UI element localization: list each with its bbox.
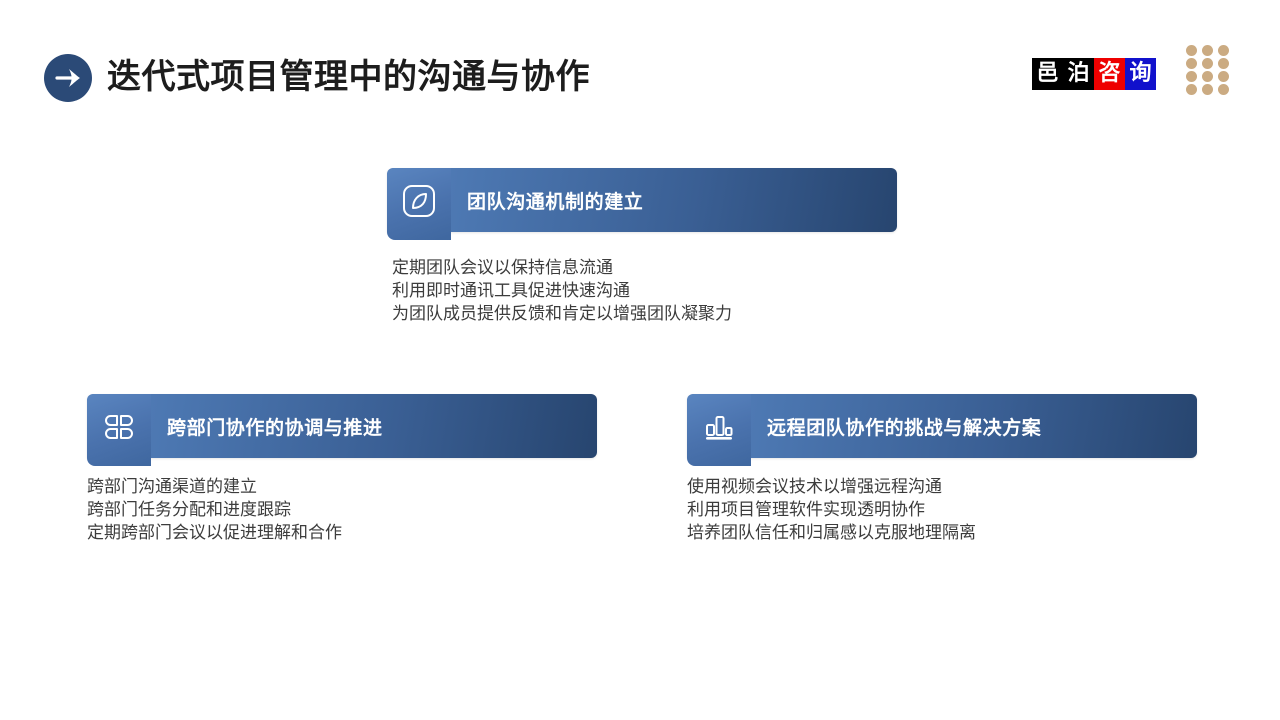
card-banner[interactable]: 团队沟通机制的建立 <box>387 168 897 232</box>
card-body-line: 跨部门任务分配和进度跟踪 <box>87 498 597 521</box>
card-body-line: 利用项目管理软件实现透明协作 <box>687 498 1197 521</box>
brand-char-1: 邑 <box>1032 58 1063 90</box>
card-body-line: 定期团队会议以保持信息流通 <box>392 256 897 279</box>
card-body: 使用视频会议技术以增强远程沟通 利用项目管理软件实现透明协作 培养团队信任和归属… <box>687 475 1197 544</box>
brand-char-2: 泊 <box>1063 58 1094 90</box>
content-card-team-communication[interactable]: 团队沟通机制的建立 定期团队会议以保持信息流通 利用即时通讯工具促进快速沟通 为… <box>387 168 897 325</box>
four-petal-grid-icon <box>87 394 151 466</box>
dot <box>1218 58 1229 69</box>
card-body-line: 定期跨部门会议以促进理解和合作 <box>87 521 597 544</box>
card-body-line: 利用即时通讯工具促进快速沟通 <box>392 279 897 302</box>
card-body: 跨部门沟通渠道的建立 跨部门任务分配和进度跟踪 定期跨部门会议以促进理解和合作 <box>87 475 597 544</box>
card-body-line: 培养团队信任和归属感以克服地理隔离 <box>687 521 1197 544</box>
dot <box>1186 58 1197 69</box>
card-body: 定期团队会议以保持信息流通 利用即时通讯工具促进快速沟通 为团队成员提供反馈和肯… <box>392 256 897 325</box>
arrow-right-icon <box>44 54 92 102</box>
dot <box>1186 71 1197 82</box>
dot <box>1202 84 1213 95</box>
page-title: 迭代式项目管理中的沟通与协作 <box>107 50 590 104</box>
leaf-in-square-icon <box>387 168 451 240</box>
bar-chart-icon <box>687 394 751 466</box>
dot <box>1186 45 1197 56</box>
content-card-cross-department[interactable]: 跨部门协作的协调与推进 跨部门沟通渠道的建立 跨部门任务分配和进度跟踪 定期跨部… <box>87 394 597 544</box>
brand-logo: 邑 泊 咨 询 <box>1032 58 1156 90</box>
brand-char-3: 咨 <box>1094 58 1125 90</box>
card-title: 远程团队协作的挑战与解决方案 <box>767 413 1041 440</box>
dot <box>1202 58 1213 69</box>
decorative-dot-grid <box>1186 45 1234 97</box>
dot <box>1218 45 1229 56</box>
card-banner[interactable]: 跨部门协作的协调与推进 <box>87 394 597 458</box>
page-header: 迭代式项目管理中的沟通与协作 邑 泊 咨 询 <box>0 0 1280 130</box>
brand-char-4: 询 <box>1125 58 1156 90</box>
card-title: 跨部门协作的协调与推进 <box>167 413 383 440</box>
dot <box>1202 71 1213 82</box>
dot <box>1202 45 1213 56</box>
card-body-line: 使用视频会议技术以增强远程沟通 <box>687 475 1197 498</box>
card-body-line: 为团队成员提供反馈和肯定以增强团队凝聚力 <box>392 302 897 325</box>
card-body-line: 跨部门沟通渠道的建立 <box>87 475 597 498</box>
dot <box>1218 71 1229 82</box>
content-card-remote-collaboration[interactable]: 远程团队协作的挑战与解决方案 使用视频会议技术以增强远程沟通 利用项目管理软件实… <box>687 394 1197 544</box>
dot <box>1218 84 1229 95</box>
dot <box>1186 84 1197 95</box>
card-title: 团队沟通机制的建立 <box>467 187 643 214</box>
card-banner[interactable]: 远程团队协作的挑战与解决方案 <box>687 394 1197 458</box>
